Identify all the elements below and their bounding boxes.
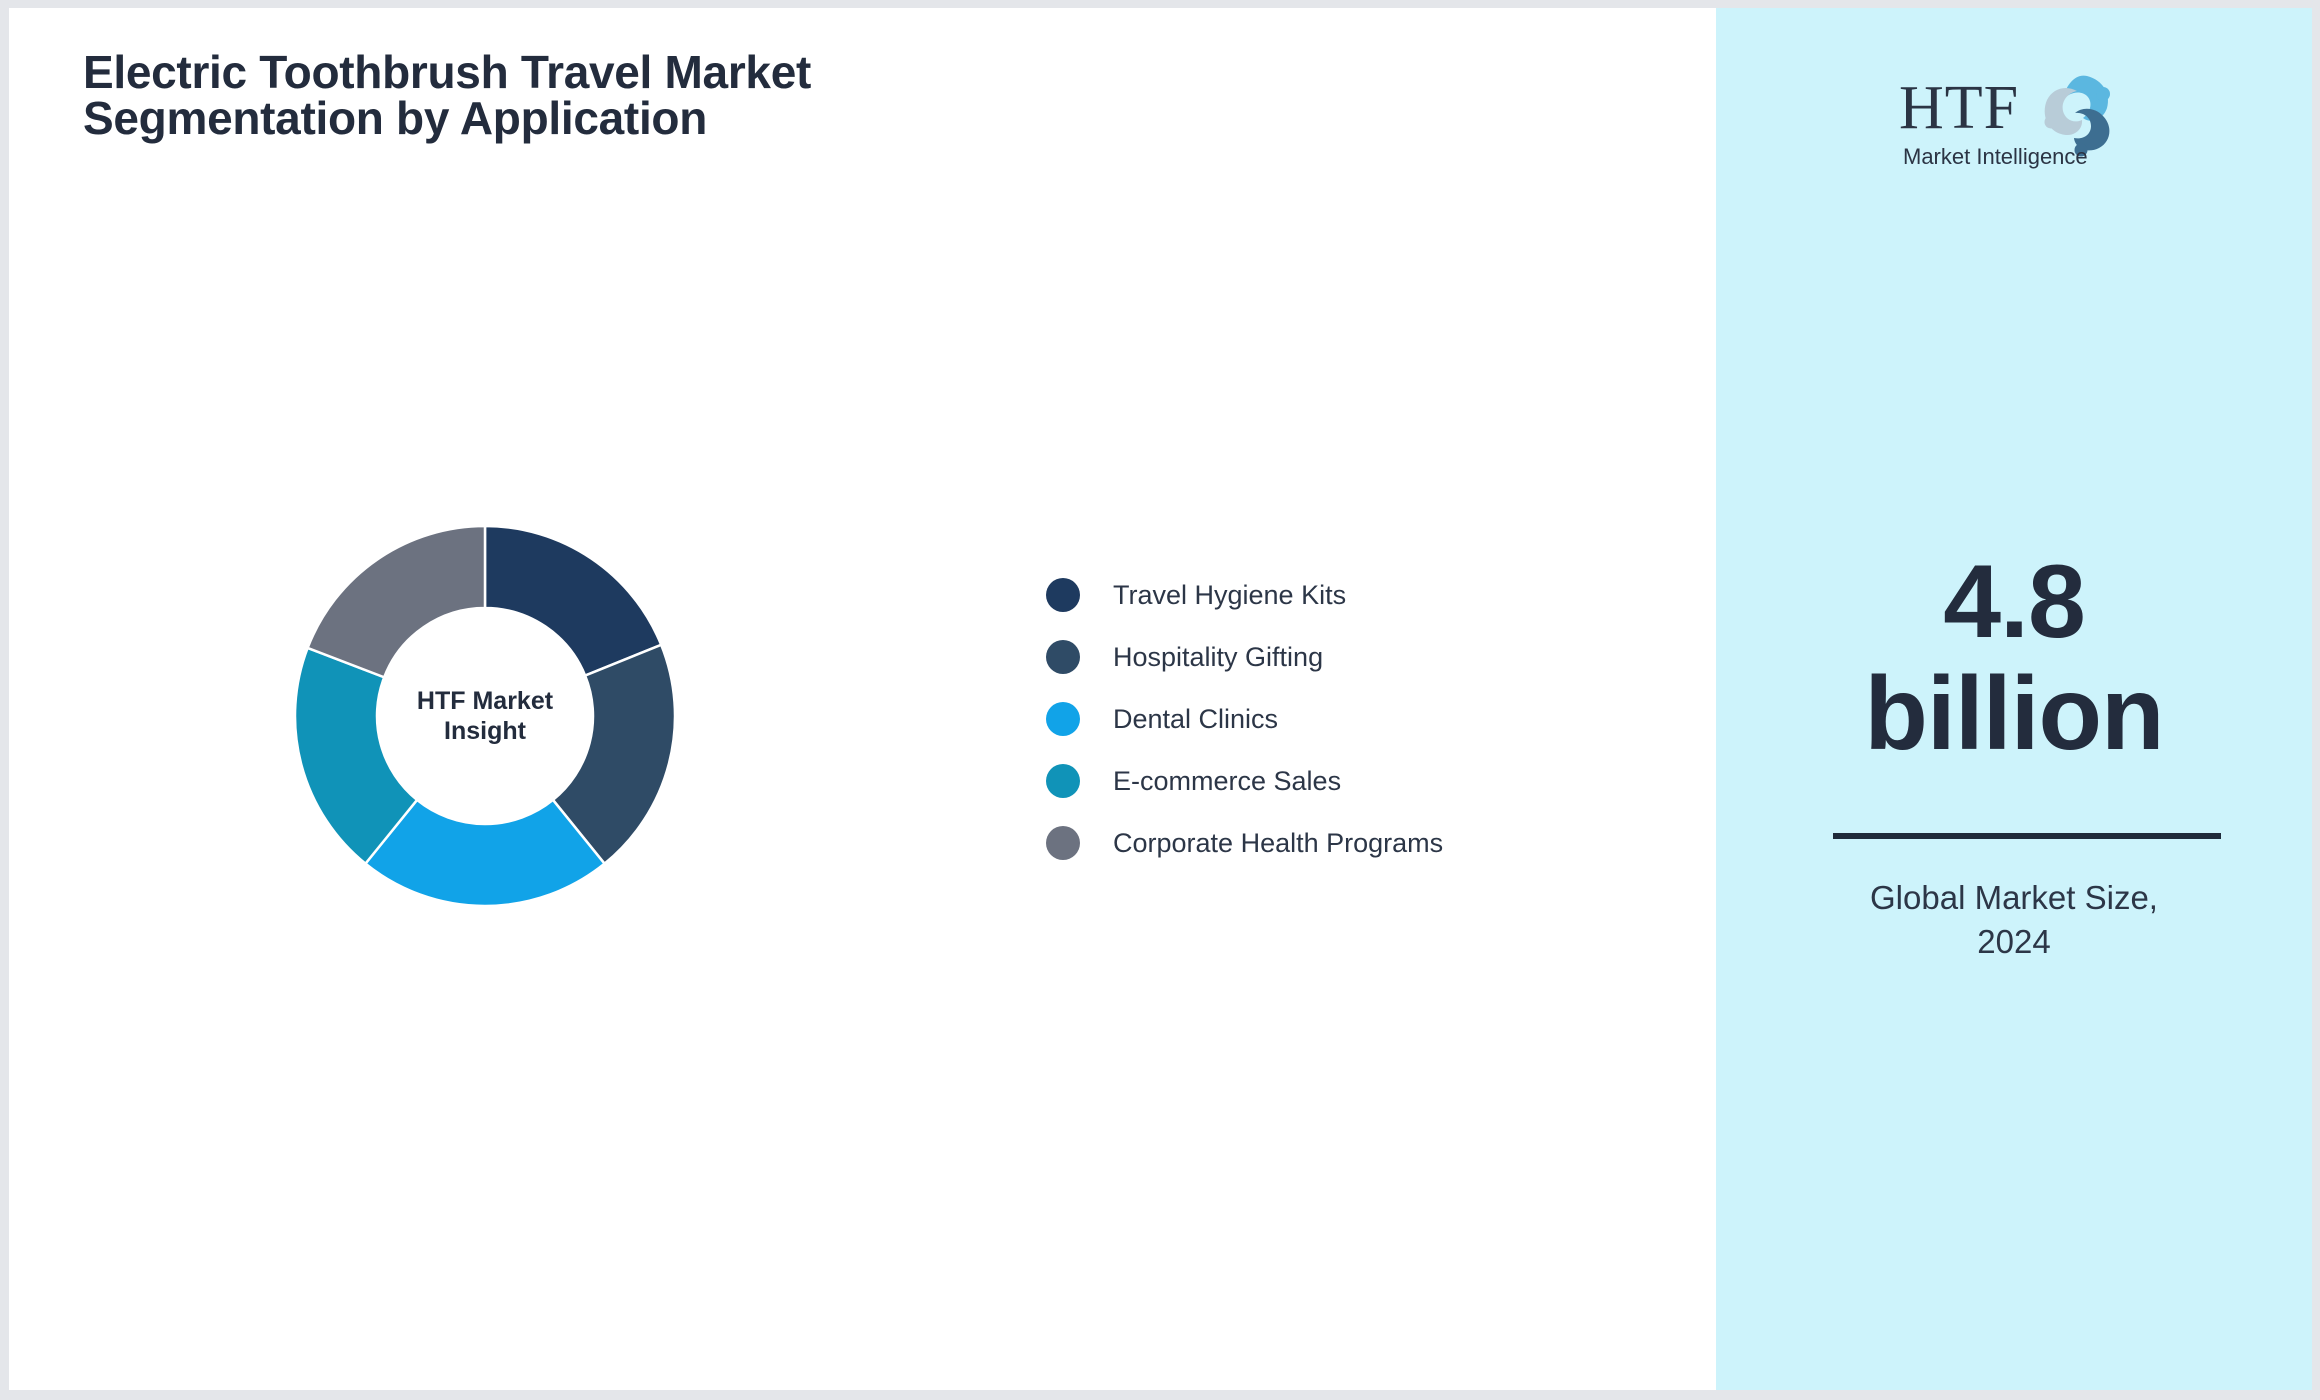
- donut-slice[interactable]: [308, 526, 485, 677]
- logo-svg: HTF Market Intelligence: [1889, 66, 2139, 174]
- logo-tagline: Market Intelligence: [1903, 144, 2088, 169]
- donut-chart: HTF Market Insight: [285, 516, 685, 916]
- content-card: Electric Toothbrush Travel Market Segmen…: [9, 8, 2312, 1390]
- chart-panel: Electric Toothbrush Travel Market Segmen…: [9, 8, 1716, 1390]
- legend-item[interactable]: E-commerce Sales: [1046, 750, 1443, 812]
- legend-item-label: Hospitality Gifting: [1113, 642, 1323, 673]
- legend-swatch-icon: [1046, 826, 1080, 860]
- chart-legend: Travel Hygiene KitsHospitality GiftingDe…: [1046, 564, 1443, 874]
- legend-item-label: E-commerce Sales: [1113, 766, 1341, 797]
- legend-swatch-icon: [1046, 640, 1080, 674]
- donut-slice[interactable]: [485, 526, 661, 676]
- page-title: Electric Toothbrush Travel Market Segmen…: [83, 49, 1083, 141]
- legend-swatch-icon: [1046, 578, 1080, 612]
- legend-item-label: Corporate Health Programs: [1113, 828, 1443, 859]
- stat-caption: Global Market Size, 2024: [1776, 876, 2252, 964]
- htf-market-intelligence-logo: HTF Market Intelligence: [1889, 66, 2139, 174]
- legend-item-label: Dental Clinics: [1113, 704, 1278, 735]
- legend-item[interactable]: Travel Hygiene Kits: [1046, 564, 1443, 626]
- stat-panel: HTF Market Intelligence 4.8 billion: [1716, 8, 2312, 1390]
- stat-value: 4.8 billion: [1716, 546, 2312, 771]
- stat-divider: [1833, 833, 2221, 839]
- donut-chart-svg: [285, 516, 685, 916]
- legend-item-label: Travel Hygiene Kits: [1113, 580, 1346, 611]
- infographic-canvas: Electric Toothbrush Travel Market Segmen…: [0, 0, 2320, 1400]
- legend-item[interactable]: Dental Clinics: [1046, 688, 1443, 750]
- svg-text:HTF: HTF: [1899, 74, 2019, 142]
- legend-item[interactable]: Corporate Health Programs: [1046, 812, 1443, 874]
- legend-item[interactable]: Hospitality Gifting: [1046, 626, 1443, 688]
- legend-swatch-icon: [1046, 764, 1080, 798]
- legend-swatch-icon: [1046, 702, 1080, 736]
